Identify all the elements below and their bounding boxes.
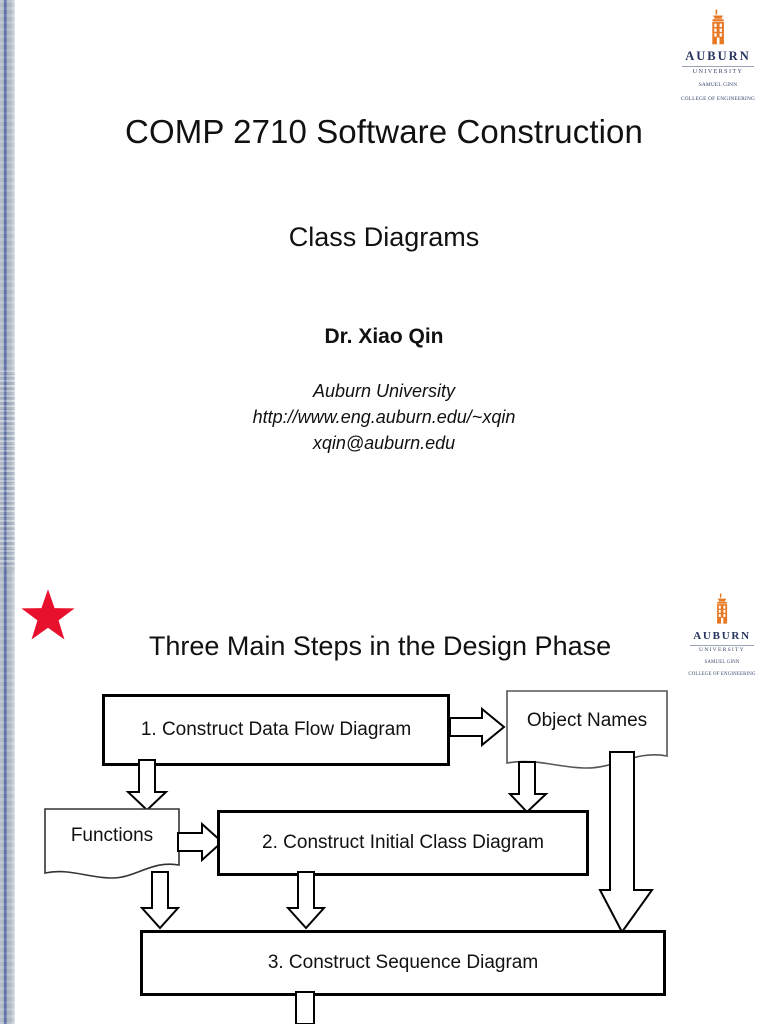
flow-arrow-down-step1-to-functions xyxy=(128,760,178,812)
flow-node-object-names-label: Object Names xyxy=(506,690,668,752)
auburn-tower-icon xyxy=(709,592,735,627)
logo-college-line1: SAMUEL GINN xyxy=(672,82,764,89)
logo-college-line2: COLLEGE OF ENGINEERING xyxy=(676,672,768,678)
slide1-website: http://www.eng.auburn.edu/~xqin xyxy=(0,404,768,430)
logo-college-line2: COLLEGE OF ENGINEERING xyxy=(672,96,764,103)
flow-node-step3[interactable]: 3. Construct Sequence Diagram xyxy=(140,930,666,996)
auburn-logo-slide1: AUBURN UNIVERSITY SAMUEL GINN COLLEGE OF… xyxy=(672,8,764,103)
logo-auburn-text: AUBURN xyxy=(685,49,750,63)
auburn-tower-icon xyxy=(703,8,733,48)
flow-node-step1[interactable]: 1. Construct Data Flow Diagram xyxy=(102,694,450,766)
flow-arrow-down-objectnames-to-step3 xyxy=(600,752,656,934)
flow-node-functions-label: Functions xyxy=(44,808,180,864)
slide1-email: xqin@auburn.edu xyxy=(0,430,768,456)
flow-arrow-down-functions-to-step3 xyxy=(142,872,188,930)
slide-page: AUBURN UNIVERSITY SAMUEL GINN COLLEGE OF… xyxy=(0,0,768,1024)
flow-arrow-down-step3-to-next xyxy=(294,992,316,1024)
slide1-affiliation-block: Auburn University http://www.eng.auburn.… xyxy=(0,378,768,456)
flow-node-step2[interactable]: 2. Construct Initial Class Diagram xyxy=(217,810,589,876)
flow-node-step2-label: 2. Construct Initial Class Diagram xyxy=(256,832,550,854)
slide2-title: Three Main Steps in the Design Phase xyxy=(60,631,700,662)
slide1-title: COMP 2710 Software Construction xyxy=(0,113,768,151)
flow-arrow-down-objectnames-to-step2 xyxy=(510,762,558,814)
page-edge-strip xyxy=(0,0,15,1024)
flow-node-functions[interactable]: Functions xyxy=(44,808,180,880)
flow-node-step1-label: 1. Construct Data Flow Diagram xyxy=(135,719,417,741)
logo-auburn-text: AUBURN xyxy=(693,630,751,642)
flow-node-step3-label: 3. Construct Sequence Diagram xyxy=(262,952,544,974)
flow-arrow-right-step1-to-objectnames xyxy=(450,707,506,747)
slide1-author: Dr. Xiao Qin xyxy=(0,325,768,349)
logo-divider xyxy=(682,66,754,67)
slide1-affiliation: Auburn University xyxy=(0,378,768,404)
flow-arrow-down-step2-to-step3 xyxy=(288,872,334,930)
logo-university-text: UNIVERSITY xyxy=(672,69,764,75)
slide1-subtitle: Class Diagrams xyxy=(0,222,768,253)
